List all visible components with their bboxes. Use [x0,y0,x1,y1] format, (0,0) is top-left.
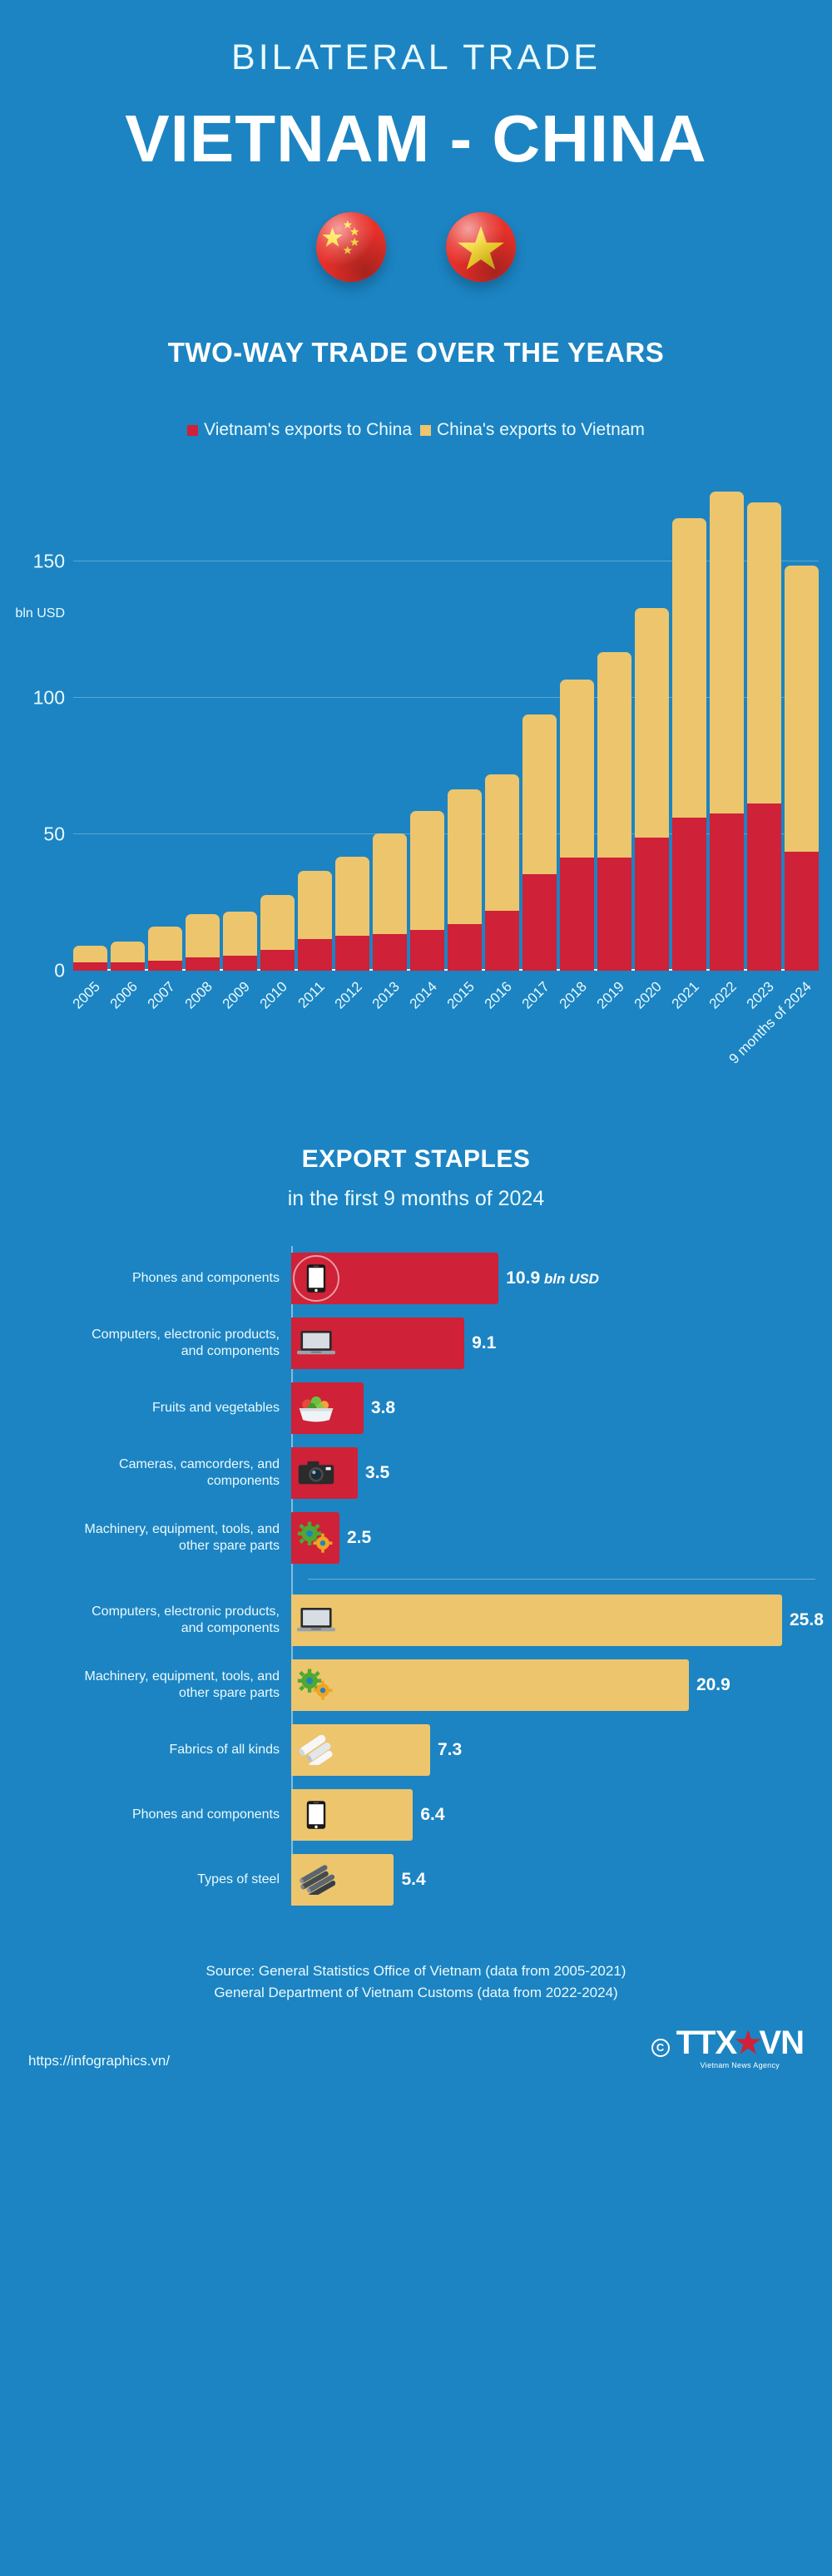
header-kicker: BILATERAL TRADE [0,40,832,76]
staple-value: 10.9 bln USD [506,1268,599,1288]
staples-title: EXPORT STAPLES [0,1145,832,1174]
staple-value: 2.5 [347,1528,371,1548]
x-axis-label: 2012 [331,978,365,1012]
bar-column[interactable]: 2008 [186,480,220,971]
flag-row [0,212,832,282]
smartphone-icon [295,1257,338,1300]
china-flag-icon [316,212,386,282]
staple-label: Machinery, equipment, tools, andother sp… [17,1669,291,1702]
laptop-icon [295,1322,338,1365]
fabric-rolls-icon [295,1728,338,1772]
bar-segment-china-exports [223,912,257,957]
x-axis-label: 2023 [743,978,777,1012]
y-tick-label-50: 50 [43,823,65,846]
bar-column[interactable]: 2013 [373,480,407,971]
bar-segment-vietnam-exports [522,874,557,971]
bar-segment-vietnam-exports [223,956,257,971]
bar-segment-vietnam-exports [672,818,706,971]
star-icon: ★ [735,2028,760,2058]
bar-column[interactable]: 2014 [410,480,444,971]
x-axis-label: 2022 [706,978,740,1012]
staple-label: Computers, electronic products,and compo… [17,1604,291,1637]
staple-bar [291,1854,394,1906]
bar-segment-china-exports [373,833,407,934]
bar-segment-vietnam-exports [448,924,482,971]
bar-segment-vietnam-exports [148,961,182,971]
x-axis-label: 2014 [406,978,440,1012]
staple-bar-wrap: 10.9 bln USD [291,1253,832,1304]
staple-row[interactable]: Computers, electronic products,and compo… [17,1311,832,1376]
staple-bar-wrap: 3.5 [291,1447,832,1499]
bar-segment-vietnam-exports [260,950,295,971]
staple-bar-wrap: 3.8 [291,1382,832,1434]
legend-item-china-exports: China's exports to Vietnam [420,420,645,440]
bar-segment-china-exports [672,518,706,818]
steel-pipes-icon [295,1858,338,1901]
logo-text-right: VN [759,2026,804,2059]
staple-bar [291,1318,464,1369]
staple-unit-label: bln USD [540,1271,599,1287]
bar-segment-vietnam-exports [73,962,107,971]
bar-segment-china-exports [335,857,369,936]
vietnam-flag-wrap [446,212,516,282]
staple-bar-wrap: 7.3 [291,1724,832,1776]
bar-segment-vietnam-exports [186,957,220,971]
page-title: VIETNAM - CHINA [0,106,832,172]
bar-segment-china-exports [710,492,744,813]
bar-column[interactable]: 2010 [260,480,295,971]
legend-swatch-red [187,425,198,436]
site-url-link[interactable]: https://infographics.vn/ [28,2053,170,2069]
bar-segment-vietnam-exports [635,838,669,971]
bar-segment-vietnam-exports [560,858,594,971]
x-axis-label: 2010 [256,978,290,1012]
page-header: BILATERAL TRADE VIETNAM - CHINA [0,0,832,282]
salad-bowl-icon [295,1387,338,1430]
ttxvn-logo: C TTX★VN Vietnam News Agency [651,2026,804,2069]
staple-bar [291,1724,430,1776]
bar-segment-vietnam-exports [747,803,781,971]
bar-column[interactable]: 2009 [223,480,257,971]
x-axis-label: 2008 [181,978,215,1012]
staple-bar [291,1595,782,1646]
staples-chart: Phones and components10.9 bln USDCompute… [0,1246,832,1912]
legend-item-vietnam-exports: Vietnam's exports to China [187,420,412,440]
staple-label: Phones and components [17,1270,291,1287]
staple-row[interactable]: Computers, electronic products,and compo… [17,1588,832,1653]
bar-segment-china-exports [260,895,295,950]
source-line-2: General Department of Vietnam Customs (d… [28,1982,804,2004]
staple-label: Types of steel [17,1871,291,1888]
bar-segment-china-exports [148,927,182,962]
bar-segment-china-exports [597,652,631,858]
staples-group-divider [308,1579,815,1580]
staple-bar-wrap: 25.8 [291,1595,832,1646]
gears-icon [295,1516,338,1560]
bar-segment-china-exports [747,502,781,804]
staple-row[interactable]: Fruits and vegetables3.8 [17,1376,832,1441]
staple-bar [291,1789,413,1841]
y-tick-label-0: 0 [54,960,65,982]
bar-segment-china-exports [635,608,669,838]
x-axis-label: 2015 [443,978,478,1012]
staple-bar [291,1659,689,1711]
staple-value: 3.8 [371,1398,395,1418]
bar-column[interactable]: 2018 [560,480,594,971]
bar-column[interactable]: 2023 [747,480,781,971]
logo-text-left: TTX [676,2026,737,2059]
source-line-1: Source: General Statistics Office of Vie… [28,1960,804,1982]
x-axis-label: 2009 [219,978,253,1012]
legend-label-vietnam-exports: Vietnam's exports to China [204,420,412,440]
footer-bottom-row: https://infographics.vn/ C TTX★VN Vietna… [28,2026,804,2069]
bar-segment-vietnam-exports [298,939,332,971]
bar-column[interactable]: 9 months of 2024 [785,480,819,971]
page-footer: Source: General Statistics Office of Vie… [0,1960,832,2088]
staple-value: 20.9 [696,1675,730,1695]
staple-value: 5.4 [401,1870,425,1890]
bar-column[interactable]: 2021 [672,480,706,971]
bar-segment-vietnam-exports [785,852,819,971]
legend-label-china-exports: China's exports to Vietnam [437,420,645,440]
staple-label: Computers, electronic products,and compo… [17,1327,291,1360]
staple-row[interactable]: Phones and components10.9 bln USD [17,1246,832,1311]
copyright-icon: C [651,2039,670,2057]
trade-chart-legend: Vietnam's exports to China China's expor… [0,420,832,440]
bar-column[interactable]: 2011 [298,480,332,971]
staple-value: 7.3 [438,1740,462,1760]
staple-value: 3.5 [365,1463,389,1483]
staple-bar [291,1512,339,1564]
y-axis-unit-label: bln USD [15,606,65,621]
staple-value: 25.8 [790,1610,824,1630]
bar-segment-china-exports [522,714,557,874]
bar-segment-china-exports [298,871,332,939]
staple-row[interactable]: Cameras, camcorders, andcomponents3.5 [17,1441,832,1506]
staple-row[interactable]: Phones and components6.4 [17,1782,832,1847]
chart-bars: 2005200620072008200920102011201220132014… [73,480,819,971]
bar-segment-vietnam-exports [597,858,631,971]
x-axis-label: 2019 [593,978,627,1012]
staple-label: Machinery, equipment, tools, andother sp… [17,1521,291,1555]
staple-row[interactable]: Machinery, equipment, tools, andother sp… [17,1653,832,1718]
staple-bar-wrap: 20.9 [291,1659,832,1711]
y-tick-label-150: 150 [33,551,65,573]
staple-row[interactable]: Machinery, equipment, tools, andother sp… [17,1506,832,1570]
staple-bar [291,1382,364,1434]
chart-plot-area: 050100150 bln USD 2005200620072008200920… [73,480,819,971]
bar-column[interactable]: 2015 [448,480,482,971]
staple-bar-wrap: 9.1 [291,1318,832,1369]
trade-chart-title: TWO-WAY TRADE OVER THE YEARS [0,337,832,368]
export-staples-section: EXPORT STAPLES in the first 9 months of … [0,1145,832,1912]
x-axis-label: 2017 [518,978,552,1012]
bar-column[interactable]: 2022 [710,480,744,971]
bar-column[interactable]: 2019 [597,480,631,971]
vietnam-flag-icon [446,212,516,282]
bar-column[interactable]: 2007 [148,480,182,971]
bar-column[interactable]: 2017 [522,480,557,971]
x-axis-label: 2011 [295,978,328,1011]
staple-label: Fabrics of all kinds [17,1742,291,1758]
bar-column[interactable]: 2012 [335,480,369,971]
staple-label: Phones and components [17,1807,291,1823]
bar-segment-china-exports [560,680,594,858]
bar-segment-china-exports [785,566,819,852]
bar-segment-vietnam-exports [410,930,444,971]
bar-segment-china-exports [410,811,444,930]
bar-segment-china-exports [73,946,107,962]
x-axis-label: 2006 [106,978,141,1012]
y-tick-label-100: 100 [33,687,65,710]
source-note: Source: General Statistics Office of Vie… [28,1960,804,2005]
bar-segment-vietnam-exports [335,936,369,971]
bar-segment-vietnam-exports [111,962,145,971]
bar-segment-china-exports [111,942,145,962]
x-axis-label: 2007 [144,978,178,1012]
staples-rows: Phones and components10.9 bln USDCompute… [17,1246,832,1912]
bar-segment-china-exports [186,914,220,957]
bar-segment-vietnam-exports [373,934,407,971]
bar-column[interactable]: 2016 [485,480,519,971]
two-way-trade-bar-chart: 050100150 bln USD 2005200620072008200920… [0,480,832,1046]
x-axis-label: 2016 [481,978,515,1012]
staple-bar [291,1447,358,1499]
bar-segment-vietnam-exports [485,911,519,971]
staple-row[interactable]: Fabrics of all kinds7.3 [17,1718,832,1782]
legend-swatch-gold [420,425,431,436]
gears-icon [295,1664,338,1707]
staple-label: Cameras, camcorders, andcomponents [17,1456,291,1490]
x-axis-label: 2020 [631,978,665,1012]
staple-value: 9.1 [472,1333,496,1353]
camera-icon [295,1451,338,1495]
bar-column[interactable]: 2020 [635,480,669,971]
staple-bar-wrap: 5.4 [291,1854,832,1906]
logo-subtitle: Vietnam News Agency [676,2062,804,2069]
x-axis-label: 2021 [668,978,702,1012]
staple-value: 6.4 [420,1805,444,1825]
x-axis-label: 2005 [69,978,103,1012]
laptop-icon [295,1599,338,1642]
staples-subtitle: in the first 9 months of 2024 [0,1187,832,1211]
bar-column[interactable]: 2005 [73,480,107,971]
logo-wordmark: TTX★VN [676,2026,804,2059]
bar-segment-china-exports [485,774,519,911]
staple-label: Fruits and vegetables [17,1400,291,1417]
staple-bar [291,1253,498,1304]
bar-column[interactable]: 2006 [111,480,145,971]
staple-row[interactable]: Types of steel5.4 [17,1847,832,1912]
x-axis-label: 2013 [369,978,403,1012]
staple-bar-wrap: 2.5 [291,1512,832,1564]
bar-segment-vietnam-exports [710,813,744,971]
staple-bar-wrap: 6.4 [291,1789,832,1841]
china-flag-wrap [316,212,386,282]
bar-segment-china-exports [448,789,482,924]
logo-text-block: TTX★VN Vietnam News Agency [676,2026,804,2069]
x-axis-label: 2018 [556,978,590,1012]
smartphone-icon [295,1793,338,1837]
